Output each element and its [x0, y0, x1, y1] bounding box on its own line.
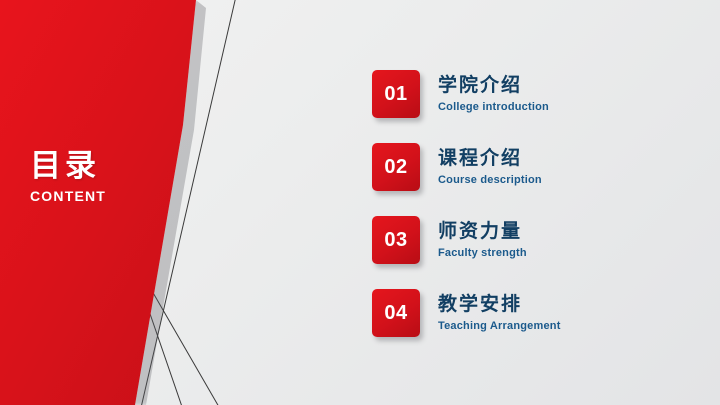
table-of-contents: 01 学院介绍 College introduction 02 课程介绍 Cou… — [372, 66, 692, 358]
toc-label-cn-3: 师资力量 — [438, 221, 527, 244]
toc-number-1: 01 — [384, 83, 407, 106]
toc-number-3: 03 — [384, 229, 407, 252]
toc-number-badge-2: 02 — [372, 143, 420, 191]
toc-labels-3: 师资力量 Faculty strength — [438, 221, 527, 260]
toc-label-cn-1: 学院介绍 — [438, 75, 549, 98]
toc-item-2[interactable]: 02 课程介绍 Course description — [372, 139, 692, 195]
toc-labels-2: 课程介绍 Course description — [438, 148, 542, 187]
toc-label-en-2: Course description — [438, 174, 542, 186]
toc-item-4[interactable]: 04 教学安排 Teaching Arrangement — [372, 285, 692, 341]
slide-title-block: 目录 CONTENT — [30, 150, 230, 204]
toc-number-badge-4: 04 — [372, 289, 420, 337]
toc-labels-4: 教学安排 Teaching Arrangement — [438, 294, 561, 333]
toc-item-1[interactable]: 01 学院介绍 College introduction — [372, 66, 692, 122]
toc-number-badge-1: 01 — [372, 70, 420, 118]
page-title: 目录 — [30, 150, 230, 183]
toc-label-en-4: Teaching Arrangement — [438, 320, 561, 332]
toc-label-cn-4: 教学安排 — [438, 294, 561, 317]
toc-label-en-3: Faculty strength — [438, 247, 527, 259]
toc-number-badge-3: 03 — [372, 216, 420, 264]
presentation-slide: 目录 CONTENT 01 学院介绍 College introduction … — [0, 0, 720, 405]
toc-number-4: 04 — [384, 302, 407, 325]
toc-number-2: 02 — [384, 156, 407, 179]
toc-label-en-1: College introduction — [438, 101, 549, 113]
toc-item-3[interactable]: 03 师资力量 Faculty strength — [372, 212, 692, 268]
toc-labels-1: 学院介绍 College introduction — [438, 75, 549, 114]
toc-label-cn-2: 课程介绍 — [438, 148, 542, 171]
page-subtitle: CONTENT — [30, 188, 230, 204]
